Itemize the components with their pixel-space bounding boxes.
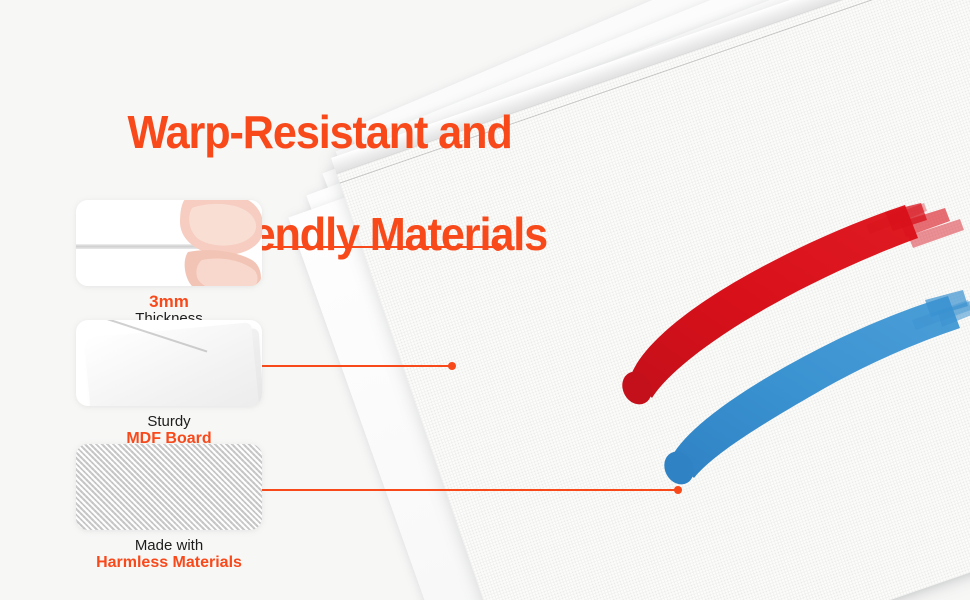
caption-primary-thickness: 3mm (76, 293, 262, 310)
callout-caption-mdf-board: Sturdy MDF Board (76, 413, 262, 447)
leader-dot-thickness (494, 243, 502, 251)
caption-primary-mdf-board: Sturdy (76, 413, 262, 430)
callout-mdf-board: Sturdy MDF Board (76, 320, 262, 447)
callout-thumb-harmless-materials (76, 444, 262, 530)
leader-dot-harmless-materials (674, 486, 682, 494)
caption-primary-harmless-materials: Made with (76, 537, 262, 554)
headline-line-1: Warp-Resistant and (128, 106, 512, 158)
callout-thickness: 3mm Thickness (76, 200, 262, 327)
canvas-weave-macro (76, 444, 262, 530)
leader-line-harmless-materials (258, 489, 678, 491)
callout-harmless-materials: Made with Harmless Materials (76, 444, 262, 571)
callout-caption-harmless-materials: Made with Harmless Materials (76, 537, 262, 571)
leader-dot-mdf-board (448, 362, 456, 370)
product-feature-banner: Warp-Resistant and Child-Friendly Materi… (0, 0, 970, 600)
leader-line-thickness (258, 246, 498, 248)
callout-thumb-mdf-board (76, 320, 262, 406)
mdf-board-front (84, 322, 260, 406)
leader-line-mdf-board (258, 365, 452, 367)
hand-icon (172, 200, 262, 286)
callout-thumb-thickness (76, 200, 262, 286)
caption-secondary-harmless-materials: Harmless Materials (76, 554, 262, 571)
